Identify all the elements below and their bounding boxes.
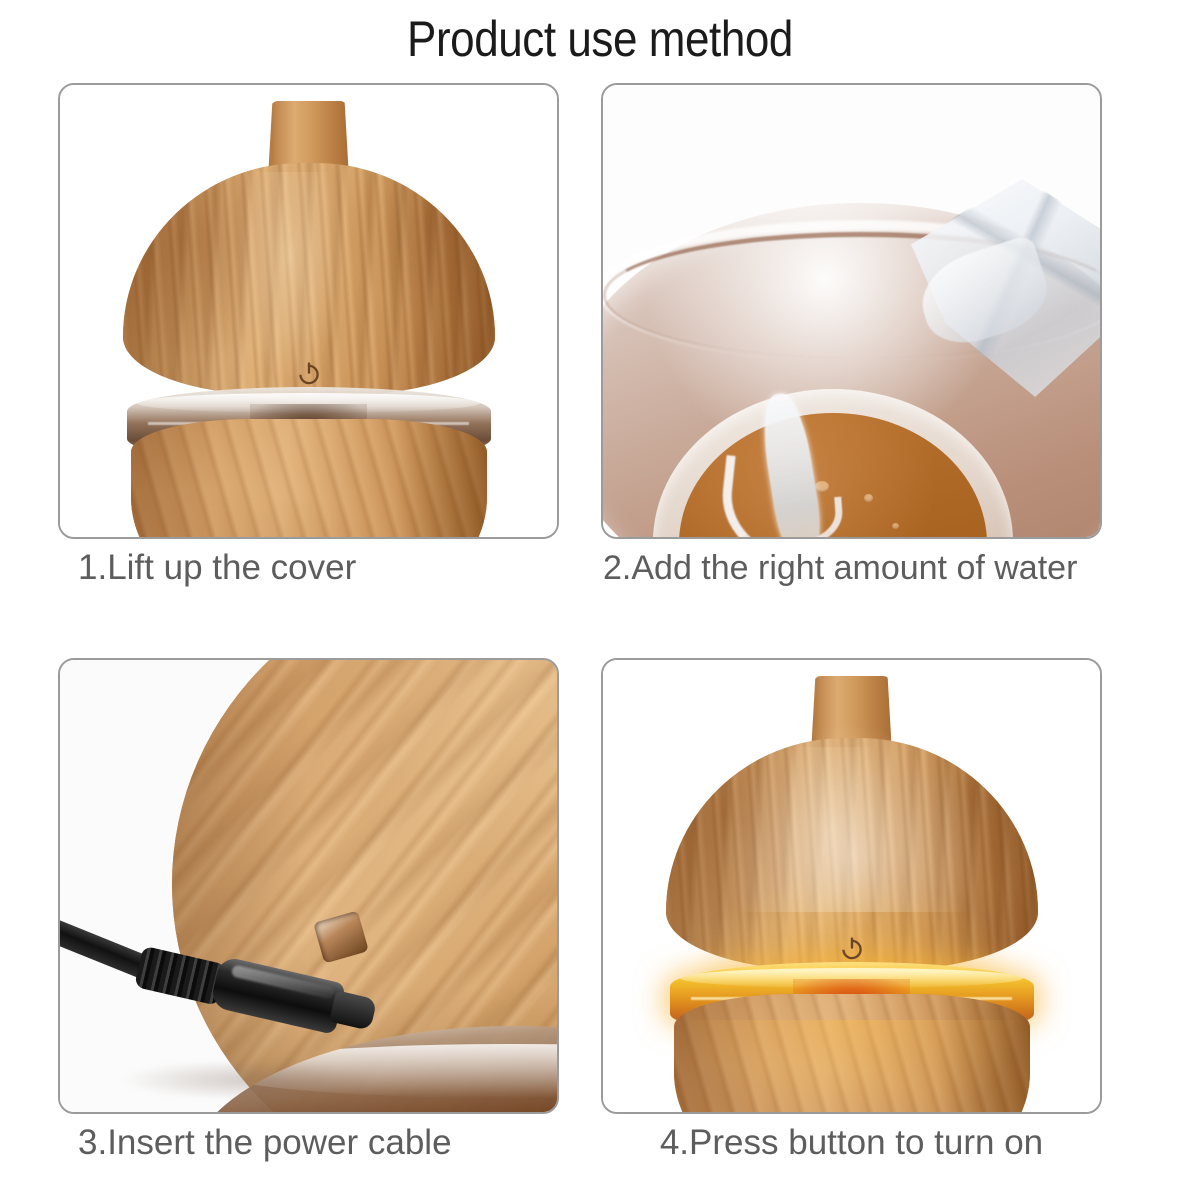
diffuser-tank	[674, 994, 1030, 1114]
step-2-caption: 2.Add the right amount of water	[601, 545, 1102, 591]
power-button-icon[interactable]	[838, 934, 866, 962]
shading-right	[937, 994, 1030, 1114]
shading-left	[674, 994, 759, 1114]
step-3-caption: 3.Insert the power cable	[58, 1120, 559, 1166]
power-cable-illustration	[60, 660, 557, 1112]
shading-highlight	[777, 747, 889, 956]
diffuser-body	[123, 101, 495, 521]
shading-highlight	[234, 172, 346, 381]
step-4-image-panel	[601, 658, 1102, 1114]
shading-right	[926, 738, 1038, 970]
water-bubble	[892, 523, 899, 529]
pour-water-illustration	[603, 85, 1100, 537]
diffuser-tank	[131, 419, 487, 539]
shading-left	[131, 419, 216, 539]
step-2-image-panel	[601, 83, 1102, 539]
page-title: Product use method	[72, 0, 1128, 78]
step-4-caption: 4.Press button to turn on	[601, 1120, 1102, 1166]
step-1-image-panel	[58, 83, 559, 539]
diffuser-body	[666, 676, 1038, 1096]
step-3-image-panel	[58, 658, 559, 1114]
step-4-cell: 4.Press button to turn on	[601, 658, 1102, 1143]
shading-left	[123, 163, 249, 395]
shading-left	[666, 738, 792, 970]
shading-right	[394, 419, 487, 539]
diffuser-illustration-lit	[603, 660, 1100, 1112]
power-button-icon[interactable]	[295, 359, 323, 387]
steps-grid: 1.Lift up the cover	[58, 83, 1102, 1143]
diffuser-illustration-unlit	[60, 85, 557, 537]
shading-right	[383, 163, 495, 395]
step-2-cell: 2.Add the right amount of water	[601, 83, 1102, 568]
step-3-cell: 3.Insert the power cable	[58, 658, 559, 1143]
step-1-cell: 1.Lift up the cover	[58, 83, 559, 568]
water-bubble	[864, 494, 873, 502]
step-1-caption: 1.Lift up the cover	[58, 545, 559, 591]
